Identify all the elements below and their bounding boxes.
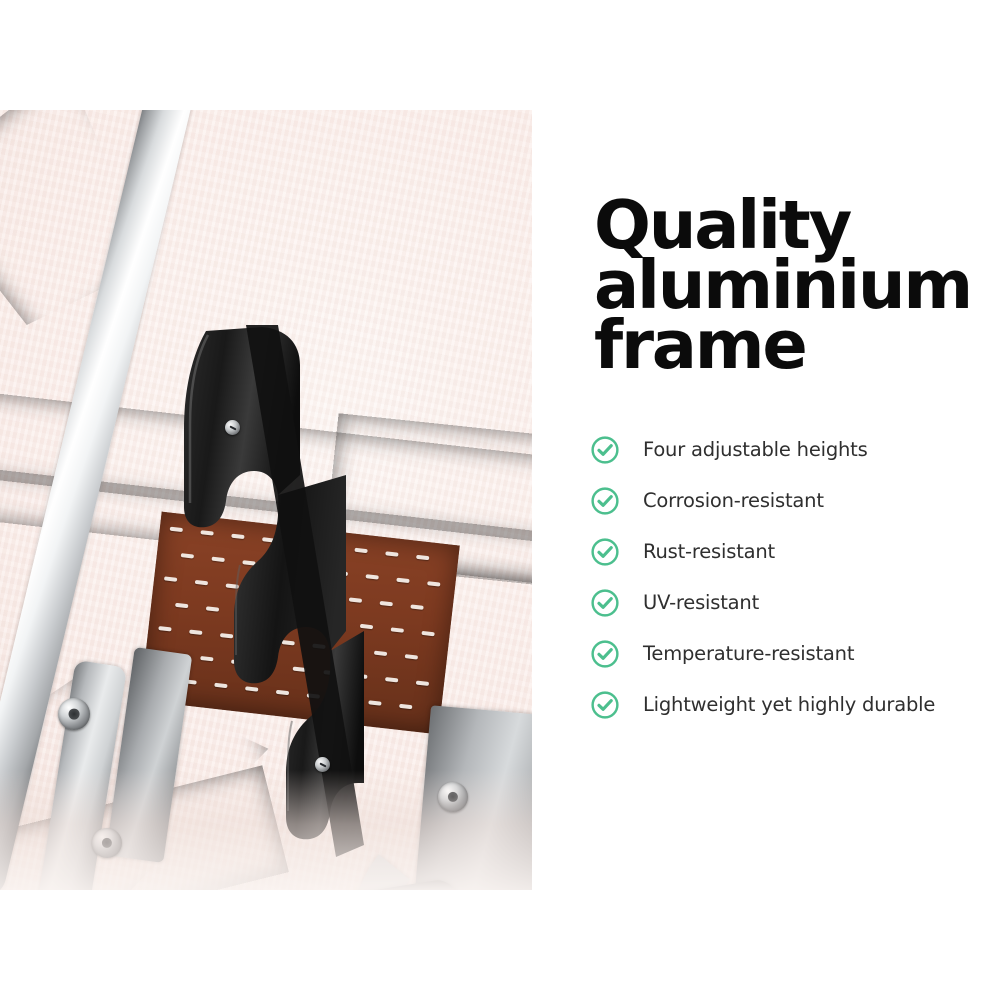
product-feature-banner: Quality aluminium frame Four adjustable …	[0, 0, 1000, 1000]
copy-panel: Quality aluminium frame Four adjustable …	[560, 0, 1000, 1000]
feature-label: Lightweight yet highly durable	[643, 693, 935, 716]
feature-item: Four adjustable heights	[590, 424, 1000, 475]
check-circle-icon	[590, 486, 620, 516]
page-title: Quality aluminium frame	[594, 195, 994, 375]
feature-item: Corrosion-resistant	[590, 475, 1000, 526]
feature-label: Corrosion-resistant	[643, 489, 824, 512]
check-circle-icon	[590, 639, 620, 669]
floor-shadow	[0, 770, 532, 890]
check-circle-icon	[590, 588, 620, 618]
feature-label: Rust-resistant	[643, 540, 775, 563]
feature-item: Lightweight yet highly durable	[590, 679, 1000, 730]
feature-item: UV-resistant	[590, 577, 1000, 628]
steel-bolt-upper	[58, 698, 90, 730]
feature-list: Four adjustable heightsCorrosion-resista…	[590, 424, 1000, 730]
feature-label: Temperature-resistant	[643, 642, 854, 665]
feature-label: Four adjustable heights	[643, 438, 868, 461]
bracket-screw-upper	[225, 420, 240, 435]
product-photo	[0, 110, 532, 890]
feature-label: UV-resistant	[643, 591, 759, 614]
check-circle-icon	[590, 435, 620, 465]
headline-line-3: frame	[594, 315, 994, 375]
check-circle-icon	[590, 537, 620, 567]
feature-item: Rust-resistant	[590, 526, 1000, 577]
check-circle-icon	[590, 690, 620, 720]
feature-item: Temperature-resistant	[590, 628, 1000, 679]
